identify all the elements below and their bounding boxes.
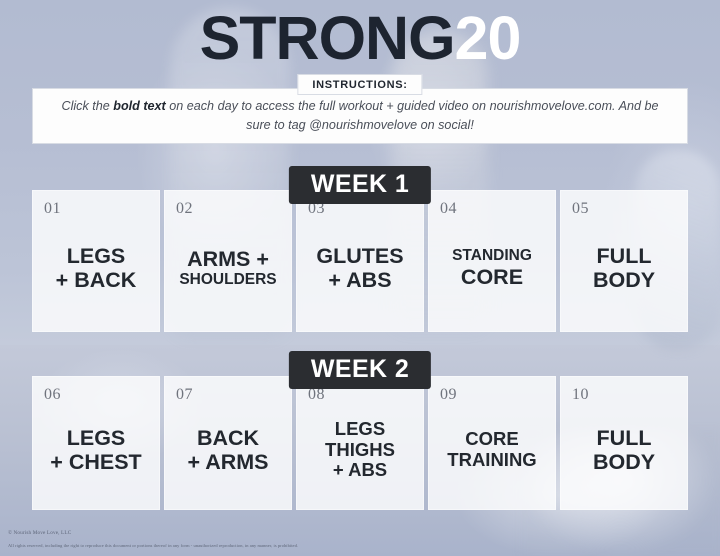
instructions-line1-suffix: on each day to access the full workout +… xyxy=(166,99,486,113)
day-workout-line: TRAINING xyxy=(447,450,536,471)
day-card-05[interactable]: 05FULLBODY xyxy=(560,190,688,332)
poster-title: STRONG20 xyxy=(0,8,720,69)
title-brand: STRONG xyxy=(200,4,455,72)
day-card-06[interactable]: 06LEGS+ CHEST xyxy=(32,376,160,510)
day-workout-line: BODY xyxy=(593,268,655,292)
day-number: 09 xyxy=(440,386,457,404)
day-workout-title[interactable]: FULLBODY xyxy=(589,244,659,292)
day-workout-line: BODY xyxy=(593,450,655,474)
day-workout-line: + ABS xyxy=(316,268,403,292)
day-workout-line: FULL xyxy=(593,244,655,268)
day-card-04[interactable]: 04STANDINGCORE xyxy=(428,190,556,332)
day-number: 05 xyxy=(572,200,589,218)
instructions-text: Click the bold text on each day to acces… xyxy=(33,97,687,135)
day-card-07[interactable]: 07BACK+ ARMS xyxy=(164,376,292,510)
instructions-line1-bold[interactable]: bold text xyxy=(113,99,165,113)
day-workout-line: LEGS xyxy=(56,244,137,268)
instructions-box: Click the bold text on each day to acces… xyxy=(32,88,688,144)
day-workout-line: LEGS xyxy=(325,419,395,440)
day-card-08[interactable]: 08LEGSTHIGHS+ ABS xyxy=(296,376,424,510)
day-workout-line: CORE xyxy=(447,429,536,450)
day-number: 02 xyxy=(176,200,193,218)
week-1-banner: WEEK 1 xyxy=(289,166,431,204)
day-workout-line: SHOULDERS xyxy=(179,271,276,288)
footer-copyright: © Nourish Move Love, LLC xyxy=(8,530,712,536)
day-workout-line: + ARMS xyxy=(187,450,268,474)
day-workout-title[interactable]: LEGS+ BACK xyxy=(52,244,141,292)
day-workout-line: FULL xyxy=(593,426,655,450)
day-number: 06 xyxy=(44,386,61,404)
day-workout-line: GLUTES xyxy=(316,244,403,268)
day-workout-title[interactable]: FULLBODY xyxy=(589,426,659,474)
day-workout-line: CORE xyxy=(452,265,532,289)
day-workout-line: THIGHS xyxy=(325,440,395,461)
footer: © Nourish Move Love, LLC All rights rese… xyxy=(8,530,712,548)
day-workout-line: + ABS xyxy=(325,460,395,481)
footer-rights-notice: All rights reserved, including the right… xyxy=(8,543,712,548)
week-2-day-row: 06LEGS+ CHEST07BACK+ ARMS08LEGSTHIGHS+ A… xyxy=(32,376,688,510)
day-number: 04 xyxy=(440,200,457,218)
day-workout-title[interactable]: CORETRAINING xyxy=(443,429,540,470)
day-workout-title[interactable]: LEGSTHIGHS+ ABS xyxy=(321,419,399,481)
day-card-09[interactable]: 09CORETRAINING xyxy=(428,376,556,510)
day-workout-line: + CHEST xyxy=(50,450,141,474)
day-workout-line: + BACK xyxy=(56,268,137,292)
day-workout-line: ARMS + xyxy=(179,247,276,271)
day-number: 07 xyxy=(176,386,193,404)
day-number: 10 xyxy=(572,386,589,404)
day-workout-title[interactable]: BACK+ ARMS xyxy=(183,426,272,474)
day-workout-title[interactable]: LEGS+ CHEST xyxy=(46,426,145,474)
title-number: 20 xyxy=(455,4,521,72)
day-workout-line: LEGS xyxy=(50,426,141,450)
day-card-03[interactable]: 03GLUTES+ ABS xyxy=(296,190,424,332)
day-workout-line: STANDING xyxy=(452,247,532,264)
instructions-tab-label: INSTRUCTIONS: xyxy=(297,74,422,95)
week-1-day-row: 01LEGS+ BACK02ARMS +SHOULDERS03GLUTES+ A… xyxy=(32,190,688,332)
instructions-line1-prefix: Click the xyxy=(61,99,113,113)
day-workout-title[interactable]: ARMS +SHOULDERS xyxy=(175,247,280,288)
day-workout-line: BACK xyxy=(187,426,268,450)
day-card-10[interactable]: 10FULLBODY xyxy=(560,376,688,510)
week-2-banner: WEEK 2 xyxy=(289,351,431,389)
day-workout-title[interactable]: STANDINGCORE xyxy=(448,247,536,288)
day-number: 01 xyxy=(44,200,61,218)
day-workout-title[interactable]: GLUTES+ ABS xyxy=(312,244,407,292)
day-card-02[interactable]: 02ARMS +SHOULDERS xyxy=(164,190,292,332)
workout-calendar-poster: STRONG20 INSTRUCTIONS: Click the bold te… xyxy=(0,0,720,556)
day-card-01[interactable]: 01LEGS+ BACK xyxy=(32,190,160,332)
